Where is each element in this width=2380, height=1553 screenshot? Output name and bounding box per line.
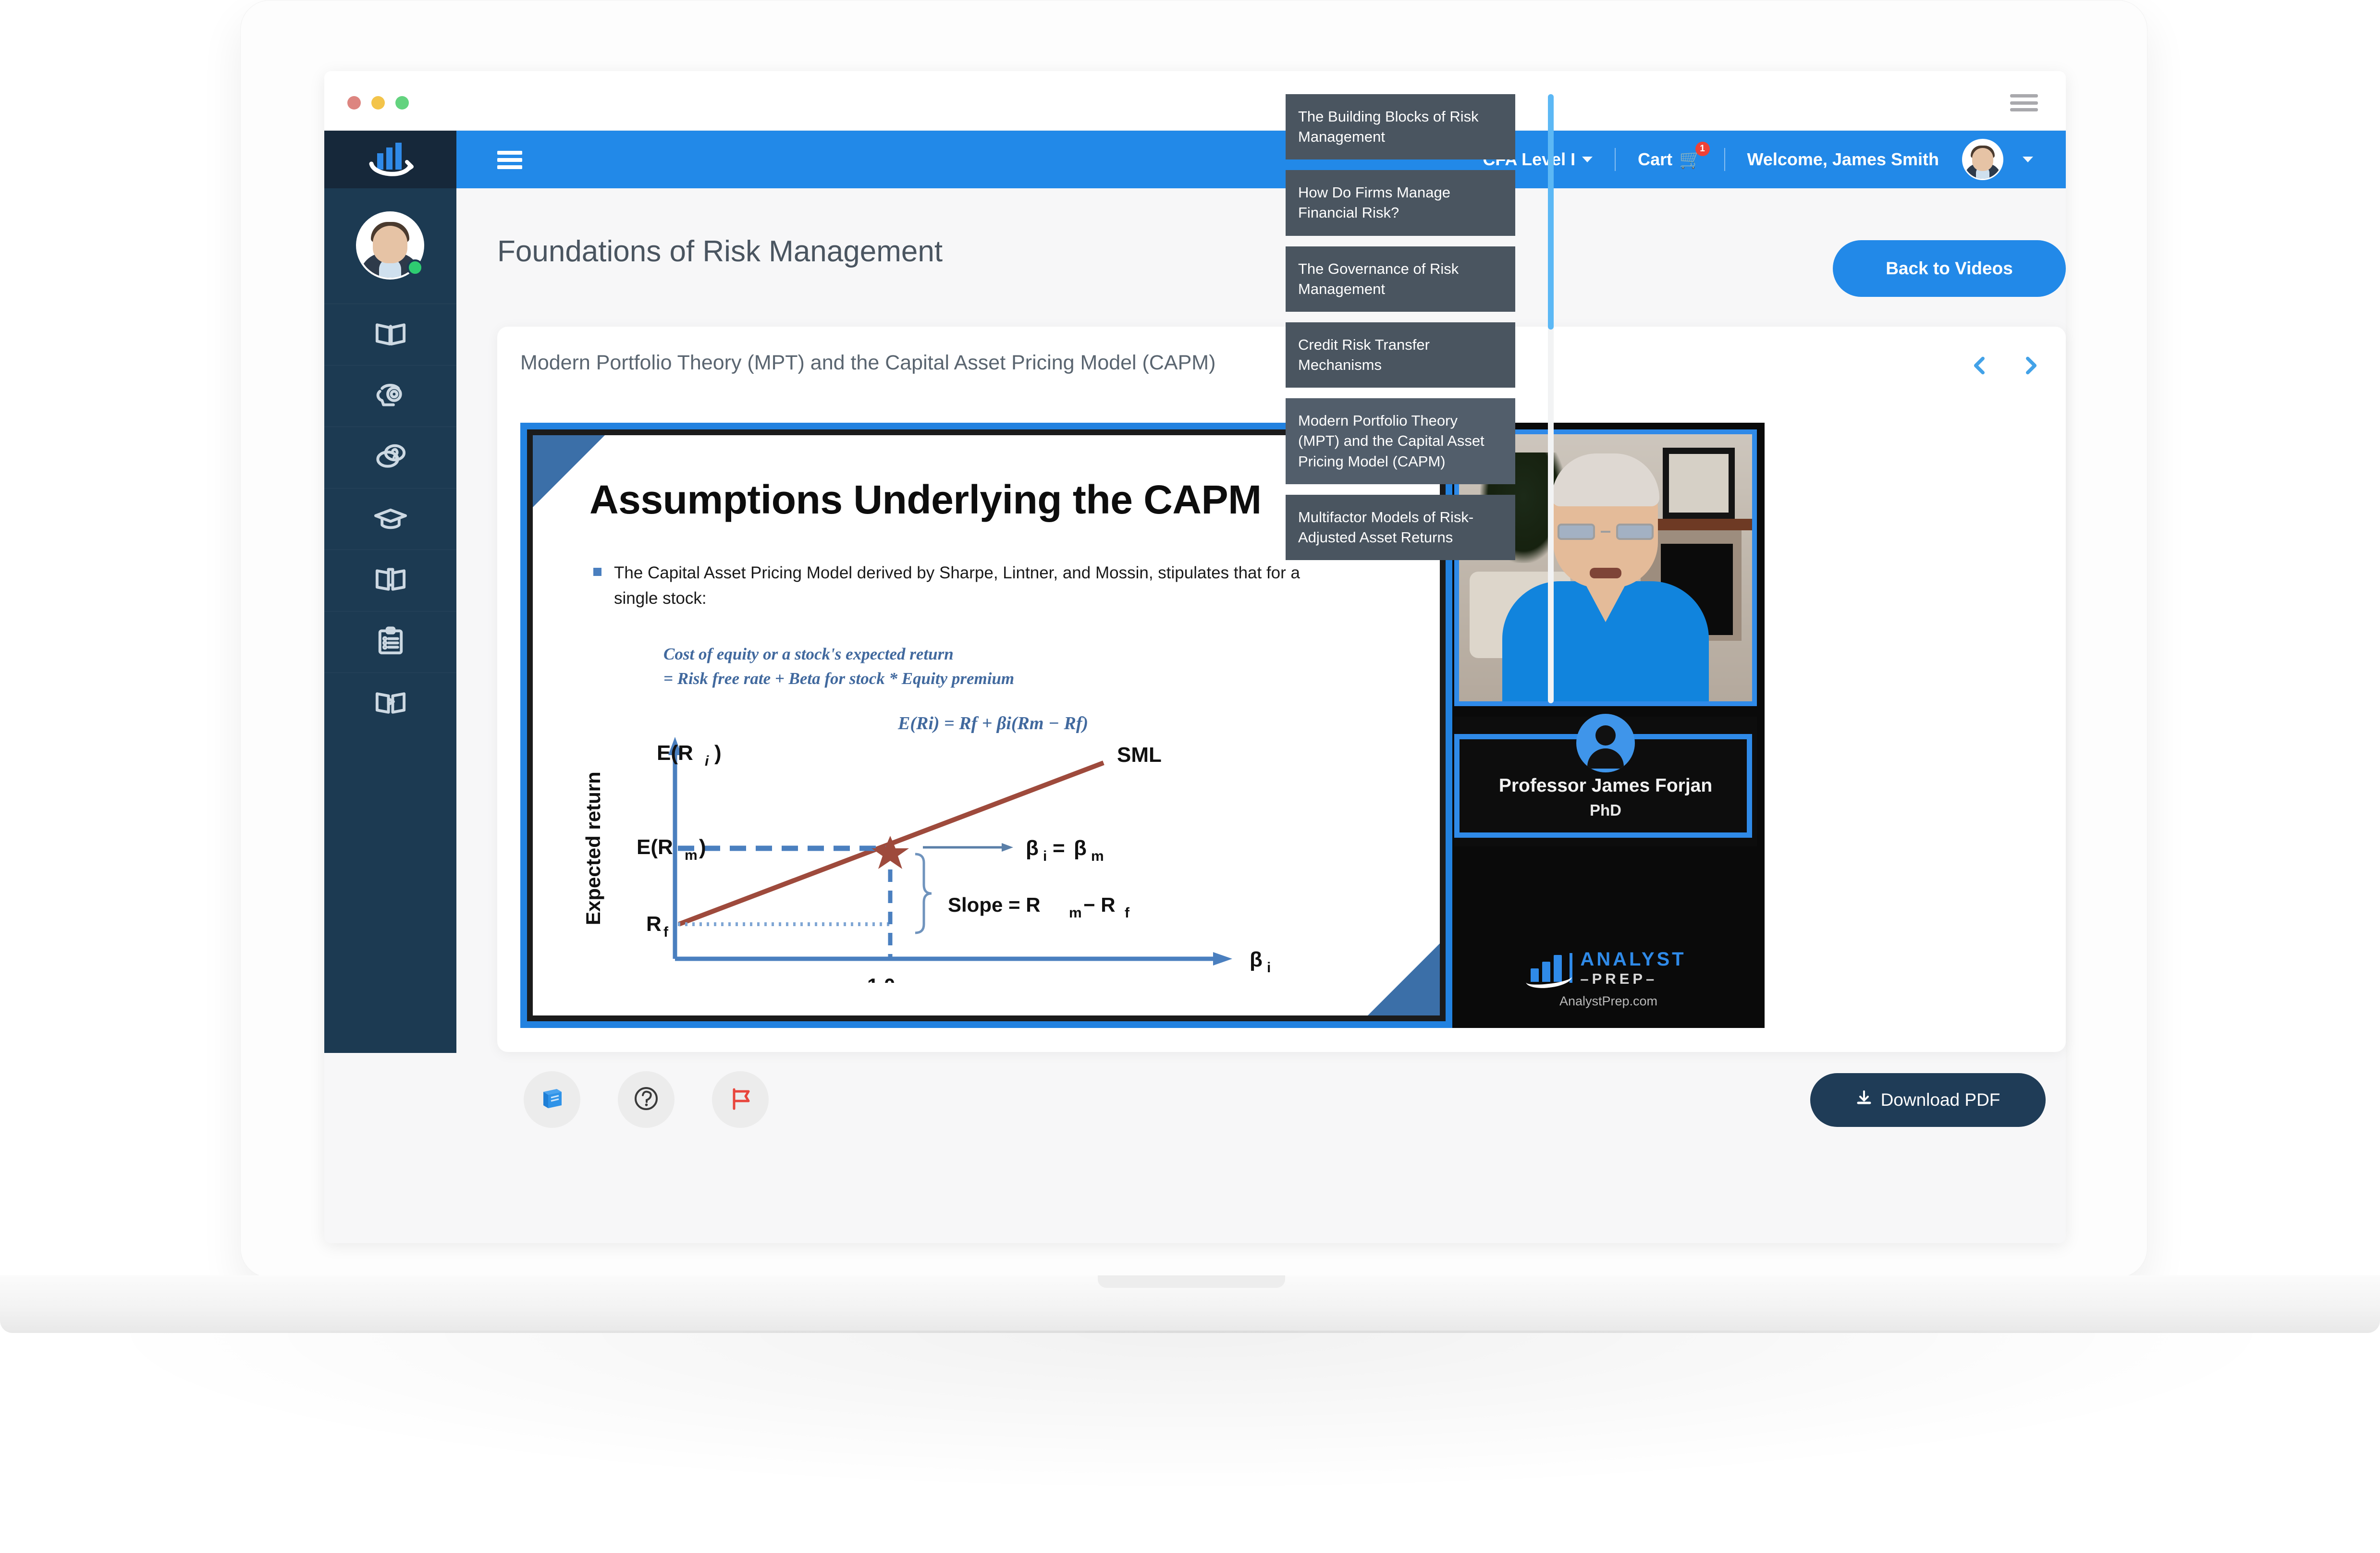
back-to-videos-button[interactable]: Back to Videos	[1833, 240, 2066, 297]
sidebar-item-study-notes[interactable]	[324, 304, 456, 365]
presenter-degree: PhD	[1454, 801, 1757, 819]
brand-url: AnalystPrep.com	[1559, 994, 1657, 1009]
user-menu[interactable]: Welcome, James Smith	[1747, 139, 2034, 180]
chevron-down-icon	[2023, 157, 2033, 162]
svg-text:=: =	[1053, 836, 1065, 860]
welcome-text: Welcome, James Smith	[1747, 149, 1939, 170]
help-button[interactable]	[618, 1071, 675, 1128]
svg-text:m: m	[685, 847, 698, 863]
sidebar-item-study-planner[interactable]	[324, 550, 456, 611]
slide-bullet: The Capital Asset Pricing Model derived …	[593, 560, 1343, 611]
window-close-button[interactable]	[347, 96, 361, 110]
sidebar-item-video-lessons[interactable]	[324, 673, 456, 734]
presenter-name-card: Professor James Forjan PhD	[1454, 717, 1757, 846]
divider	[1615, 148, 1616, 171]
svg-text:β: β	[1250, 948, 1263, 971]
browser-menu-icon[interactable]	[2010, 94, 2038, 111]
card-navigation	[1970, 355, 2041, 376]
svg-text:f: f	[1125, 905, 1130, 921]
laptop-notch	[1098, 1275, 1285, 1288]
svg-text:i: i	[705, 753, 709, 769]
analystprep-brand: ANALYST –PREP– AnalystPrep.com	[1452, 950, 1765, 1009]
clipboard-checklist-icon	[373, 623, 408, 661]
svg-text:E(R: E(R	[657, 741, 693, 765]
slide-formula-math: E(Ri) = Rf + βi(Rm − Rf)	[898, 713, 1088, 734]
video-lesson-card: Modern Portfolio Theory (MPT) and the Ca…	[497, 327, 2066, 1052]
presenter-name: Professor James Forjan	[1454, 775, 1757, 796]
notes-button[interactable]	[524, 1071, 580, 1128]
sml-chart: . . E(R m ) R f E(R i ) SML β i 1.0 β i	[579, 733, 1357, 983]
analystprep-logo-icon	[1531, 954, 1562, 982]
report-flag-button[interactable]	[712, 1071, 769, 1128]
sidebar-item-mock-exams[interactable]	[324, 488, 456, 550]
laptop-shadow	[110, 1331, 2272, 1489]
list-item[interactable]: Multifactor Models of Risk-Adjusted Asse…	[1286, 495, 1515, 560]
y-axis-label: Expected return	[582, 771, 604, 925]
blue-book-icon	[539, 1085, 565, 1114]
sidebar-item-learn-practice[interactable]	[324, 365, 456, 427]
brand-secondary: –PREP–	[1580, 971, 1686, 986]
slide-title: Assumptions Underlying the CAPM	[589, 477, 1262, 523]
playlist-scrollbar-thumb[interactable]	[1548, 94, 1554, 330]
cart-label: Cart	[1638, 149, 1672, 170]
cart-button[interactable]: Cart 🛒 1	[1638, 149, 1702, 170]
download-pdf-label: Download PDF	[1881, 1090, 2000, 1110]
list-item[interactable]: The Building Blocks of Risk Management	[1286, 94, 1515, 159]
topbar-right-group: CFA Level I Cart 🛒 1 Welcome, James Smit…	[1483, 131, 2033, 188]
svg-text:E(R: E(R	[637, 835, 673, 859]
svg-text:β: β	[1074, 836, 1087, 860]
brand-primary: ANALYST	[1580, 950, 1686, 969]
window-minimize-button[interactable]	[371, 96, 385, 110]
chevron-down-icon	[1582, 157, 1593, 162]
top-navigation-bar: CFA Level I Cart 🛒 1 Welcome, James Smit…	[456, 131, 2066, 188]
left-sidebar	[324, 131, 456, 1053]
user-circle-icon	[1576, 714, 1635, 772]
sidebar-item-question-bank[interactable]	[324, 427, 456, 488]
sidebar-toggle-icon[interactable]	[497, 151, 522, 169]
svg-text:1.0: 1.0	[867, 974, 895, 983]
red-flag-icon	[727, 1086, 753, 1114]
page-title: Foundations of Risk Management	[497, 234, 943, 269]
slide-corner-decoration	[1368, 943, 1440, 1015]
svg-text:): )	[699, 835, 706, 859]
slide-formula-words: Cost of equity or a stock's expected ret…	[663, 642, 1014, 691]
book-play-icon	[373, 685, 408, 722]
list-item[interactable]: Credit Risk Transfer Mechanisms	[1286, 322, 1515, 388]
svg-text:): )	[714, 741, 722, 765]
open-book-icon	[373, 316, 408, 354]
lesson-playlist[interactable]: The Building Blocks of Risk Management H…	[1286, 94, 1535, 703]
question-circle-icon	[633, 1086, 659, 1114]
list-item[interactable]: The Governance of Risk Management	[1286, 246, 1515, 312]
browser-chrome	[324, 71, 2066, 131]
svg-text:β: β	[1026, 836, 1039, 860]
svg-text:i: i	[1043, 848, 1047, 864]
window-maximize-button[interactable]	[395, 96, 409, 110]
download-pdf-button[interactable]: Download PDF	[1810, 1073, 2046, 1127]
graduation-cap-icon	[373, 500, 408, 538]
svg-text:− R: − R	[1083, 893, 1116, 916]
analystprep-logo-icon[interactable]	[324, 131, 456, 188]
svg-text:Slope = R: Slope = R	[948, 893, 1041, 916]
sidebar-item-performance[interactable]	[324, 611, 456, 673]
list-item[interactable]: How Do Firms Manage Financial Risk?	[1286, 170, 1515, 235]
list-item-active[interactable]: Modern Portfolio Theory (MPT) and the Ca…	[1286, 398, 1515, 484]
svg-text:m: m	[1069, 905, 1082, 921]
svg-text:SML: SML	[1117, 743, 1162, 767]
avatar	[1962, 139, 2003, 180]
divider	[1724, 148, 1725, 171]
svg-text:i: i	[1267, 960, 1271, 976]
svg-text:R: R	[646, 912, 662, 936]
download-icon	[1856, 1090, 1872, 1111]
brain-gear-icon	[373, 377, 408, 415]
video-player[interactable]: Assumptions Underlying the CAPM The Capi…	[520, 423, 1765, 1028]
shopping-cart-icon: 🛒 1	[1679, 150, 1702, 169]
question-bubble-icon	[373, 439, 408, 477]
slide-bullet-text: The Capital Asset Pricing Model derived …	[614, 560, 1343, 611]
cart-badge: 1	[1695, 142, 1710, 156]
svg-text:f: f	[663, 924, 669, 940]
book-bookmark-icon	[373, 562, 408, 599]
svg-text:m: m	[1091, 848, 1104, 864]
bullet-marker	[593, 568, 601, 576]
online-status-dot	[407, 259, 423, 276]
chevron-right-icon[interactable]	[2021, 355, 2041, 376]
sidebar-avatar[interactable]	[356, 211, 424, 280]
chevron-left-icon[interactable]	[1970, 355, 1990, 376]
